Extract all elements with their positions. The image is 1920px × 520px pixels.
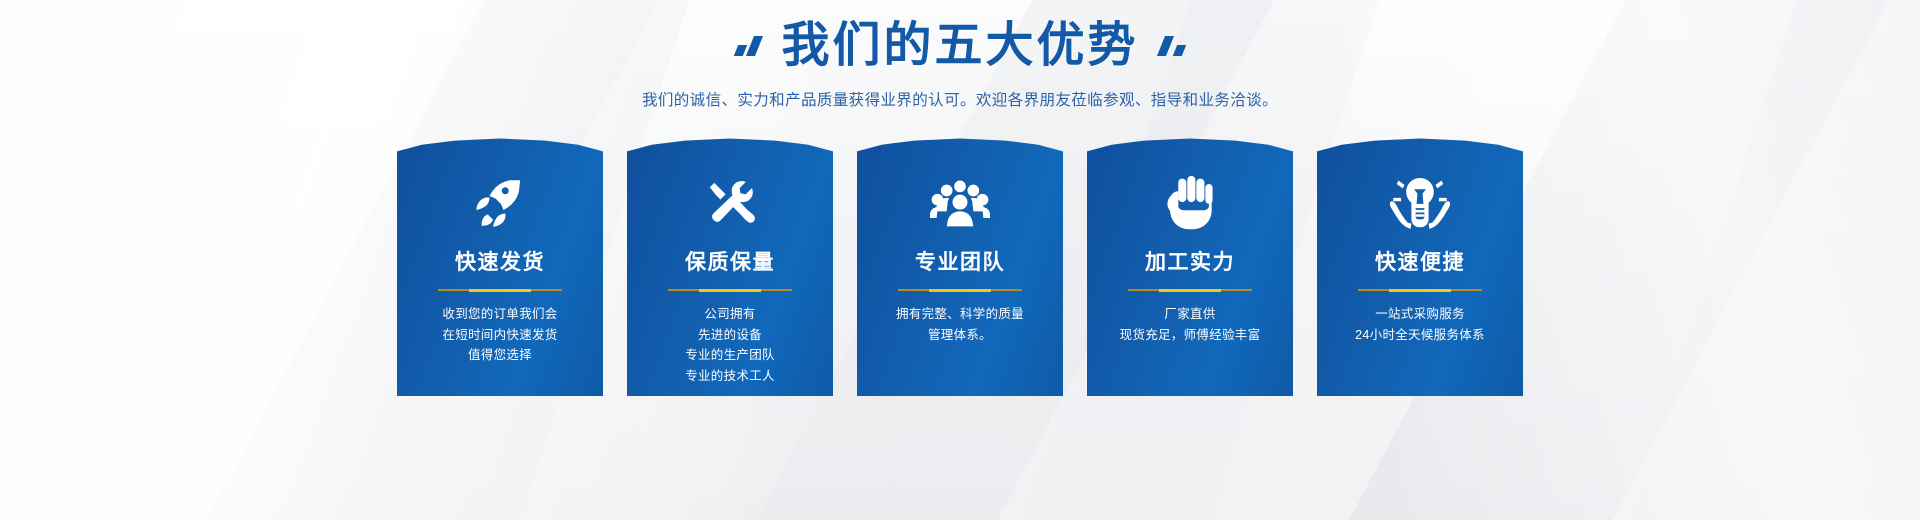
slash-decoration-left-icon (736, 36, 759, 56)
advantage-card[interactable]: 加工实力 厂家直供 现货充足，师傅经验丰富 (1087, 138, 1293, 396)
people-group-icon (857, 172, 1063, 234)
card-desc-line: 值得您选择 (397, 345, 603, 366)
advantage-card[interactable]: 快速便捷 一站式采购服务 24小时全天候服务体系 (1317, 138, 1523, 396)
card-desc-line: 收到您的订单我们会 (397, 304, 603, 325)
card-divider (898, 289, 1022, 291)
card-desc-line: 公司拥有 (627, 304, 833, 325)
rocket-icon (397, 172, 603, 234)
advantage-card[interactable]: 保质保量 公司拥有 先进的设备 专业的生产团队 专业的技术工人 (627, 138, 833, 396)
card-title: 快速发货 (397, 246, 603, 276)
advantages-banner: 我们的五大优势 我们的诚信、实力和产品质量获得业界的认可。欢迎各界朋友莅临参观、… (0, 0, 1920, 520)
card-desc-line: 管理体系。 (857, 325, 1063, 346)
banner-subtitle: 我们的诚信、实力和产品质量获得业界的认可。欢迎各界朋友莅临参观、指导和业务洽谈。 (0, 88, 1920, 110)
advantage-card[interactable]: 快速发货 收到您的订单我们会 在短时间内快速发货 值得您选择 (397, 138, 603, 396)
card-divider (1128, 289, 1252, 291)
card-desc-line: 专业的生产团队 (627, 345, 833, 366)
card-divider (668, 289, 792, 291)
card-description: 收到您的订单我们会 在短时间内快速发货 值得您选择 (397, 304, 603, 366)
card-desc-line: 先进的设备 (627, 325, 833, 346)
card-desc-line: 24小时全天候服务体系 (1317, 325, 1523, 346)
page-title: 我们的五大优势 (781, 16, 1138, 76)
card-divider (438, 289, 562, 291)
card-description: 拥有完整、科学的质量 管理体系。 (857, 304, 1063, 345)
card-divider (1358, 289, 1482, 291)
card-description: 公司拥有 先进的设备 专业的生产团队 专业的技术工人 (627, 304, 833, 387)
fist-icon (1087, 172, 1293, 234)
advantage-card-list: 快速发货 收到您的订单我们会 在短时间内快速发货 值得您选择 保质保量 公司拥有 (0, 138, 1920, 396)
card-desc-line: 厂家直供 (1087, 304, 1293, 325)
title-row: 我们的五大优势 (0, 16, 1920, 76)
advantage-card[interactable]: 专业团队 拥有完整、科学的质量 管理体系。 (857, 138, 1063, 396)
card-desc-line: 现货充足，师傅经验丰富 (1087, 325, 1293, 346)
hands-lightbulb-icon (1317, 172, 1523, 234)
card-title: 加工实力 (1087, 246, 1293, 276)
card-desc-line: 拥有完整、科学的质量 (857, 304, 1063, 325)
slash-decoration-right-icon (1161, 36, 1184, 56)
wrench-screwdriver-icon (627, 172, 833, 234)
card-description: 一站式采购服务 24小时全天候服务体系 (1317, 304, 1523, 345)
card-desc-line: 一站式采购服务 (1317, 304, 1523, 325)
banner-header: 我们的五大优势 我们的诚信、实力和产品质量获得业界的认可。欢迎各界朋友莅临参观、… (0, 0, 1920, 110)
card-title: 快速便捷 (1317, 246, 1523, 276)
card-description: 厂家直供 现货充足，师傅经验丰富 (1087, 304, 1293, 345)
card-desc-line: 在短时间内快速发货 (397, 325, 603, 346)
card-title: 专业团队 (857, 246, 1063, 276)
card-desc-line: 专业的技术工人 (627, 366, 833, 387)
card-title: 保质保量 (627, 246, 833, 276)
